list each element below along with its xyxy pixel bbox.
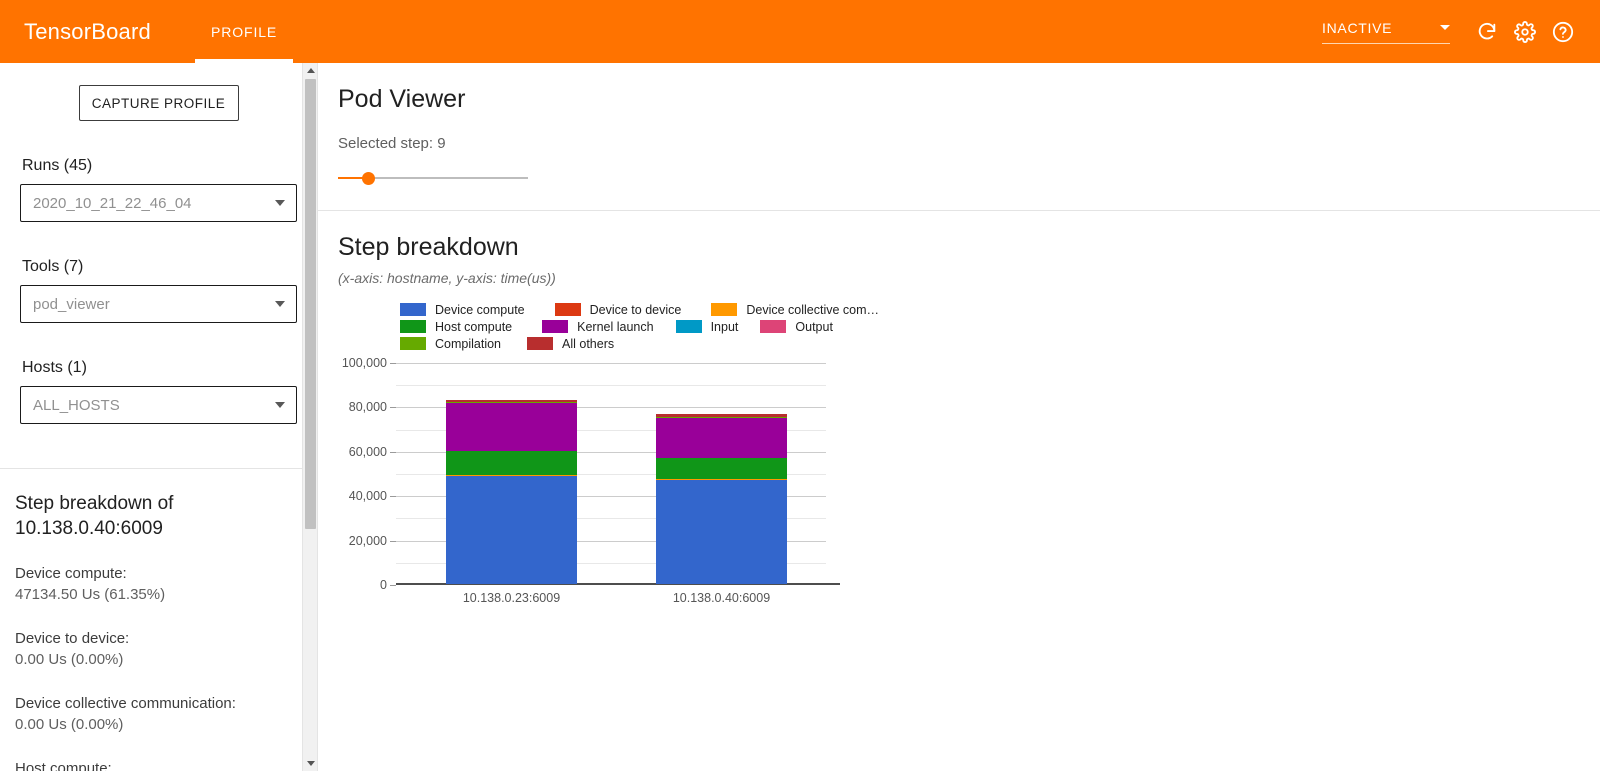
legend-label: Host compute xyxy=(435,320,512,334)
chevron-down-icon xyxy=(1440,25,1450,30)
tools-value: pod_viewer xyxy=(33,296,110,313)
status-value: INACTIVE xyxy=(1322,20,1392,36)
y-axis-tickmark xyxy=(390,452,396,453)
chart-legend: Device computeDevice to deviceDevice col… xyxy=(400,302,870,351)
step-breakdown-card: Step breakdown (x-axis: hostname, y-axis… xyxy=(318,211,1600,605)
detail-stat: Device compute:47134.50 Us (61.35%) xyxy=(15,563,297,606)
app-brand: TensorBoard xyxy=(24,19,151,45)
step-breakdown-detail: Step breakdown of 10.138.0.40:6009 Devic… xyxy=(0,469,317,771)
legend-swatch xyxy=(400,303,426,316)
legend-item[interactable]: Device to device xyxy=(555,302,682,317)
legend-label: Compilation xyxy=(435,337,501,351)
scroll-down-arrow-icon[interactable] xyxy=(303,756,318,771)
chevron-down-icon xyxy=(275,402,285,408)
legend-swatch xyxy=(676,320,702,333)
detail-stat-key: Device collective communication: xyxy=(15,693,297,714)
legend-label: Kernel launch xyxy=(577,320,653,334)
y-axis-tick-label: 0 xyxy=(380,578,387,592)
app-body: CAPTURE PROFILE Runs (45) 2020_10_21_22_… xyxy=(0,63,1600,771)
runs-select[interactable]: 2020_10_21_22_46_04 xyxy=(20,184,297,222)
y-axis-tickmark xyxy=(390,363,396,364)
triangle-up-icon xyxy=(307,68,315,73)
y-axis-tickmark xyxy=(390,496,396,497)
detail-stat-list: Device compute:47134.50 Us (61.35%)Devic… xyxy=(15,563,297,771)
tools-label: Tools (7) xyxy=(22,258,297,276)
legend-swatch xyxy=(527,337,553,350)
chevron-down-icon xyxy=(275,200,285,206)
chart-bar[interactable]: 10.138.0.23:6009 xyxy=(446,400,577,584)
slider-thumb[interactable] xyxy=(362,172,375,185)
legend-label: Device to device xyxy=(590,303,682,317)
y-axis-tickmark xyxy=(390,541,396,542)
detail-stat-value: 47134.50 Us (61.35%) xyxy=(15,584,297,606)
legend-label: All others xyxy=(562,337,614,351)
legend-item[interactable]: All others xyxy=(527,336,614,351)
runs-value: 2020_10_21_22_46_04 xyxy=(33,195,192,212)
chart-bar[interactable]: 10.138.0.40:6009 xyxy=(656,414,787,584)
legend-swatch xyxy=(400,337,426,350)
legend-swatch xyxy=(555,303,581,316)
hosts-value: ALL_HOSTS xyxy=(33,397,120,414)
sidebar: CAPTURE PROFILE Runs (45) 2020_10_21_22_… xyxy=(0,63,318,771)
y-axis-tick-label: 40,000 xyxy=(349,489,387,503)
detail-stat-value: 0.00 Us (0.00%) xyxy=(15,649,297,671)
page-title: Pod Viewer xyxy=(338,85,1600,114)
gridline-minor xyxy=(396,385,826,386)
legend-item[interactable]: Kernel launch xyxy=(542,319,653,334)
legend-item[interactable]: Host compute xyxy=(400,319,512,334)
chart-bar-segment[interactable] xyxy=(446,451,577,475)
tab-profile[interactable]: PROFILE xyxy=(195,0,293,63)
detail-stat: Host compute: xyxy=(15,758,297,771)
chart-subtitle: (x-axis: hostname, y-axis: time(us)) xyxy=(338,270,1600,286)
main-content: Pod Viewer Selected step: 9 Step breakdo… xyxy=(318,63,1600,771)
chart-title: Step breakdown xyxy=(338,233,1600,262)
detail-stat-value: 0.00 Us (0.00%) xyxy=(15,714,297,736)
detail-stat-key: Host compute: xyxy=(15,758,297,771)
detail-stat: Device collective communication:0.00 Us … xyxy=(15,693,297,736)
runs-select-group: Runs (45) 2020_10_21_22_46_04 xyxy=(20,157,297,222)
y-axis-tick-label: 80,000 xyxy=(349,400,387,414)
chart-plot-area: 020,00040,00060,00080,000100,00010.138.0… xyxy=(396,363,826,585)
legend-swatch xyxy=(542,320,568,333)
legend-swatch xyxy=(400,320,426,333)
hosts-label: Hosts (1) xyxy=(22,359,297,377)
runs-label: Runs (45) xyxy=(22,157,297,175)
legend-label: Device compute xyxy=(435,303,525,317)
legend-label: Input xyxy=(711,320,739,334)
tools-select[interactable]: pod_viewer xyxy=(20,285,297,323)
detail-stat: Device to device:0.00 Us (0.00%) xyxy=(15,628,297,671)
header-actions: INACTIVE xyxy=(1322,17,1578,47)
detail-title: Step breakdown of 10.138.0.40:6009 xyxy=(15,491,297,541)
chevron-down-icon xyxy=(275,301,285,307)
y-axis-tick-label: 100,000 xyxy=(342,356,387,370)
chart-bar-segment[interactable] xyxy=(656,458,787,479)
chart-bar-segment[interactable] xyxy=(656,418,787,459)
legend-label: Output xyxy=(795,320,833,334)
app-header: TensorBoard PROFILE INACTIVE xyxy=(0,0,1600,63)
y-axis-tick-label: 60,000 xyxy=(349,445,387,459)
pod-viewer-header: Pod Viewer Selected step: 9 xyxy=(318,63,1600,188)
y-axis-tick-label: 20,000 xyxy=(349,534,387,548)
gridline-major xyxy=(396,363,826,364)
legend-item[interactable]: Input xyxy=(676,319,739,334)
legend-item[interactable]: Device compute xyxy=(400,302,525,317)
legend-swatch xyxy=(711,303,737,316)
legend-item[interactable]: Device collective com… xyxy=(711,302,879,317)
legend-item[interactable]: Compilation xyxy=(400,336,501,351)
legend-row: Host computeKernel launchInputOutput xyxy=(400,319,870,334)
legend-row: CompilationAll others xyxy=(400,336,870,351)
step-breakdown-chart: 020,00040,00060,00080,000100,00010.138.0… xyxy=(340,355,840,605)
legend-row: Device computeDevice to deviceDevice col… xyxy=(400,302,870,317)
hosts-select[interactable]: ALL_HOSTS xyxy=(20,386,297,424)
sidebar-controls: CAPTURE PROFILE Runs (45) 2020_10_21_22_… xyxy=(0,63,317,424)
legend-item[interactable]: Output xyxy=(760,319,833,334)
refresh-icon[interactable] xyxy=(1472,17,1502,47)
tools-select-group: Tools (7) pod_viewer xyxy=(20,258,297,323)
capture-profile-button[interactable]: CAPTURE PROFILE xyxy=(79,85,239,121)
legend-swatch xyxy=(760,320,786,333)
help-circle-icon[interactable] xyxy=(1548,17,1578,47)
chart-bar-segment[interactable] xyxy=(446,403,577,451)
y-axis-tickmark xyxy=(390,407,396,408)
y-axis-tickmark xyxy=(390,585,396,586)
x-axis-tick-label: 10.138.0.40:6009 xyxy=(673,591,770,605)
x-axis-tick-label: 10.138.0.23:6009 xyxy=(463,591,560,605)
chart-bar-segment[interactable] xyxy=(446,476,577,584)
triangle-down-icon xyxy=(307,761,315,766)
tab-profile-label: PROFILE xyxy=(211,24,277,40)
scrollbar-thumb[interactable] xyxy=(305,79,316,529)
detail-stat-key: Device compute: xyxy=(15,563,297,584)
legend-label: Device collective com… xyxy=(746,303,879,317)
hosts-select-group: Hosts (1) ALL_HOSTS xyxy=(20,359,297,424)
status-dropdown[interactable]: INACTIVE xyxy=(1322,20,1450,44)
scroll-up-arrow-icon[interactable] xyxy=(303,63,318,78)
step-slider[interactable] xyxy=(338,168,528,188)
chart-bar-segment[interactable] xyxy=(656,480,787,584)
sidebar-scrollbar[interactable] xyxy=(302,63,317,771)
detail-stat-key: Device to device: xyxy=(15,628,297,649)
selected-step-label: Selected step: 9 xyxy=(338,135,1600,152)
settings-gear-icon[interactable] xyxy=(1510,17,1540,47)
